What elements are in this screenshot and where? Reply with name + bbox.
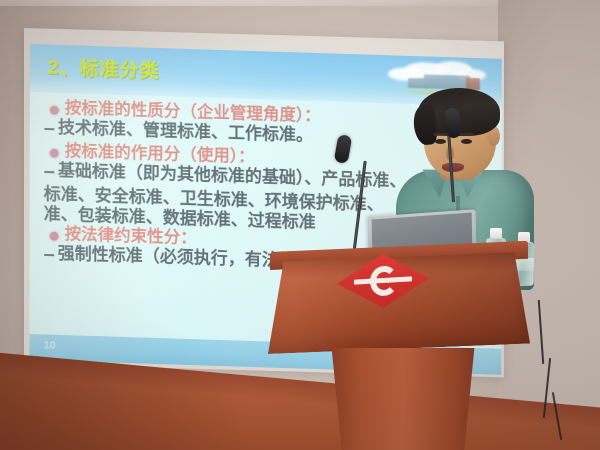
- dash-marker-icon: –: [44, 244, 55, 267]
- speaker-eye: [461, 139, 472, 144]
- podium-base: [318, 348, 488, 450]
- slide-page-number: 10: [43, 339, 55, 351]
- speaker-eyebrow: [433, 133, 448, 136]
- dash-marker-icon: –: [44, 161, 55, 184]
- slide-title: 2、标准分类: [48, 53, 160, 84]
- dash-marker-icon: –: [44, 118, 55, 141]
- speaker-mouth: [442, 163, 464, 172]
- handheld-microphone-head-icon: [445, 107, 462, 138]
- bullet-dot-icon: [50, 106, 59, 115]
- podium-emblem-icon: [336, 250, 431, 311]
- bullet-dot-icon: [50, 148, 59, 157]
- conference-room-scene: 2、标准分类 按标准的性质分（企业管理角度）： –技术标准、管理标准、工作标准。…: [0, 0, 600, 450]
- speaker-eyebrow: [459, 133, 474, 136]
- bullet-dot-icon: [50, 231, 59, 240]
- speaker-eye: [435, 139, 446, 144]
